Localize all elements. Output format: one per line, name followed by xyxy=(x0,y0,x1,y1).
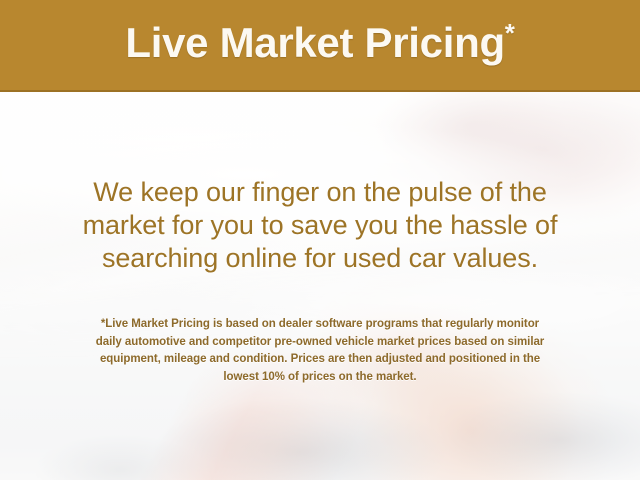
disclaimer-line-1: *Live Market Pricing is based on dealer … xyxy=(32,316,608,334)
page-title-text: Live Market Pricing xyxy=(125,19,504,66)
disclaimer-line-2: daily automotive and competitor pre-owne… xyxy=(32,334,608,352)
disclaimer-text: *Live Market Pricing is based on dealer … xyxy=(32,316,608,386)
headline-line-1: We keep our finger on the pulse of the xyxy=(0,176,640,209)
page-title-asterisk: * xyxy=(505,18,515,48)
disclaimer-line-3: equipment, mileage and condition. Prices… xyxy=(32,351,608,369)
page-title: Live Market Pricing* xyxy=(125,22,514,68)
disclaimer-line-4: lowest 10% of prices on the market. xyxy=(32,369,608,387)
headline-text: We keep our finger on the pulse of the m… xyxy=(0,176,640,275)
headline-line-3: searching online for used car values. xyxy=(0,242,640,275)
headline-line-2: market for you to save you the hassle of xyxy=(0,209,640,242)
header-banner: Live Market Pricing* xyxy=(0,0,640,92)
live-market-pricing-banner: Live Market Pricing* We keep our finger … xyxy=(0,0,640,480)
